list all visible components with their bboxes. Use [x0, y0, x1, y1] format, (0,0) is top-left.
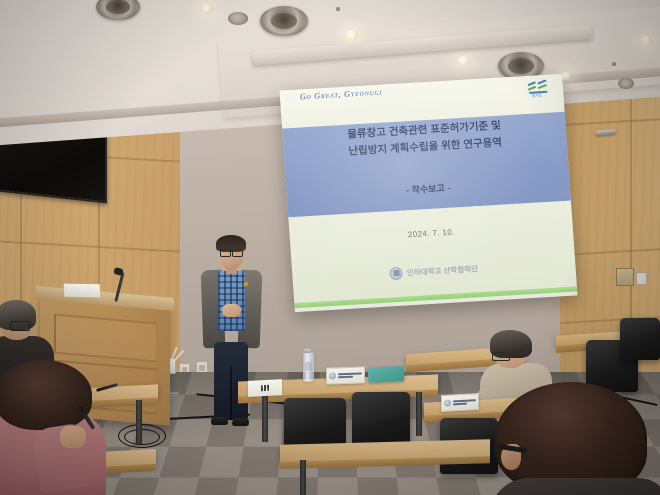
placard-seal-icon	[444, 399, 451, 406]
attendee-hair	[0, 360, 92, 430]
university-seal-icon	[390, 267, 404, 281]
teal-folder	[368, 366, 405, 383]
wall-control-panel[interactable]	[616, 268, 634, 286]
attendee-shoulders	[489, 478, 660, 495]
eyeglasses-icon	[10, 321, 30, 331]
attendee-foreground-right	[495, 382, 655, 495]
attendee-left-foreground	[0, 368, 124, 495]
presenter-plaid-shirt	[218, 271, 245, 331]
lectern-paper	[64, 284, 101, 298]
trouser-seam	[230, 366, 232, 420]
slide-organization: 인하대학교 산학협력단	[292, 256, 575, 286]
placard-line	[453, 403, 467, 406]
paper-document	[248, 379, 282, 397]
slide-title-band: 물류창고 건축관련 표준허가기준 및 난립방지 계획수립을 위한 연구용역 - …	[282, 112, 571, 217]
slide-subtitle: - 착수보고 -	[286, 174, 569, 204]
table-leg	[262, 394, 268, 442]
presenter	[196, 238, 266, 438]
light-switch[interactable]	[636, 272, 647, 285]
chair	[620, 318, 660, 360]
presenter-hands	[222, 304, 241, 317]
air-diffuser-icon	[260, 6, 308, 36]
presenter-shoe-left	[211, 417, 228, 425]
placard-seal-icon	[329, 372, 336, 379]
ceiling-speaker-icon	[228, 12, 248, 25]
table-leg	[300, 460, 306, 495]
table-leg	[136, 400, 142, 444]
photo-scene: Go Great, Gyeonggi 경기도 물류창고 건축관련 표준허가기준 …	[0, 0, 660, 495]
slide-tagline: Go Great, Gyeonggi	[299, 87, 382, 102]
placard-text	[453, 399, 476, 405]
placard-text	[338, 372, 362, 378]
water-bottle	[303, 352, 314, 382]
eyeglasses-icon	[232, 249, 243, 257]
eyeglasses-icon	[492, 352, 510, 361]
slide-date: 2024. 7. 10.	[290, 220, 573, 246]
downlight-icon	[345, 30, 358, 40]
downlight-icon	[200, 4, 213, 13]
lapel-pin-icon	[244, 282, 248, 286]
eyeglasses-bridge	[229, 251, 232, 252]
svg-text:경기도: 경기도	[531, 92, 543, 98]
slide-body-band: 2024. 7. 10. 인하대학교 산학협력단	[288, 200, 577, 308]
placard-line	[338, 376, 353, 379]
bottle-cap	[304, 349, 311, 353]
lectern-panel	[54, 314, 158, 363]
ceiling-sensor-icon	[612, 62, 616, 66]
paper-print-mark	[261, 385, 269, 392]
coiled-cable	[124, 429, 160, 445]
table-leg	[416, 392, 422, 436]
projection-screen: Go Great, Gyeonggi 경기도 물류창고 건축관련 표준허가기준 …	[279, 74, 577, 312]
slide-organization-label: 인하대학교 산학협력단	[407, 263, 479, 278]
ceiling-speaker-icon	[618, 78, 634, 89]
downlight-icon	[457, 56, 469, 65]
name-placard	[441, 393, 479, 412]
downlight-icon	[640, 36, 652, 45]
name-placard	[326, 366, 365, 384]
attendee-hand	[60, 426, 86, 448]
gyeonggi-province-logo-icon: 경기도	[526, 80, 552, 98]
ceiling-sensor-icon	[336, 7, 340, 11]
presenter-shoe-right	[232, 418, 249, 426]
